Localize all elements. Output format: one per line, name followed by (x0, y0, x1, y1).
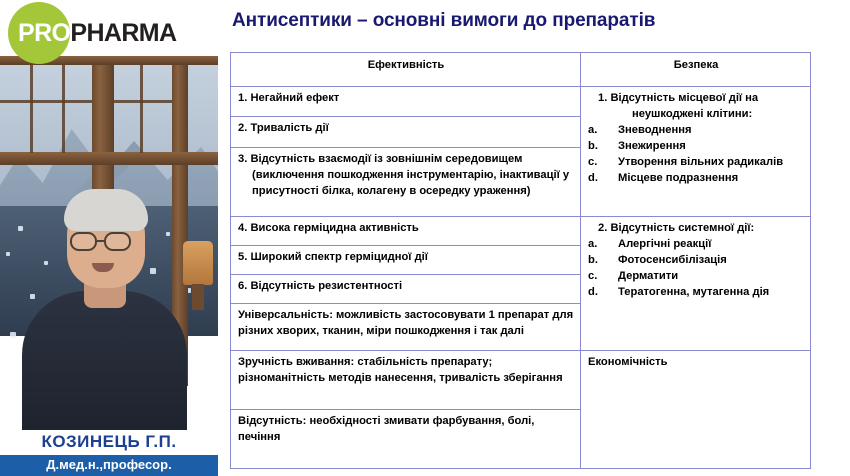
list-text: Знежирення (618, 139, 804, 155)
list-marker: b. (588, 139, 618, 155)
logo-wordmark: PROPHARMA (18, 19, 177, 48)
eyeglasses-left-lens (70, 232, 97, 251)
list-text: Дерматити (618, 269, 804, 285)
list-item: d.Тератогенна, мутагенна дія (588, 285, 804, 301)
safety-block-1-list: a.Зневоднення b.Знежирення c.Утворення в… (588, 123, 804, 187)
safety-economy: Економічність (581, 351, 811, 469)
list-marker: c. (588, 155, 618, 171)
speaker-name: КОЗИНЕЦЬ Г.П. (0, 430, 218, 455)
efficacy-universality: Універсальність: можливість застосовуват… (231, 303, 581, 350)
list-marker: b. (588, 253, 618, 269)
list-item: d.Місцеве подразнення (588, 171, 804, 187)
virtual-background-scene (0, 56, 218, 476)
slide-content: Антисептики – основні вимоги до препарат… (218, 0, 850, 476)
list-marker: c. (588, 269, 618, 285)
efficacy-item-4: 4. Висока гермiцидна активність (231, 217, 581, 246)
list-text: Тератогенна, мутагенна дія (618, 285, 804, 301)
safety-block-1: 1. Відсутність місцевої дії на неушкодже… (581, 87, 811, 217)
list-text: Утворення вільних радикалів (618, 155, 804, 171)
speaker-hair (64, 189, 148, 231)
eyeglasses-bridge (97, 240, 104, 242)
list-marker: d. (588, 285, 618, 301)
efficacy-convenience: Зручність вживання: стабільність препара… (231, 351, 581, 410)
speaker-figure (0, 56, 218, 476)
efficacy-item-6: 6. Відсутність резистентності (231, 274, 581, 303)
safety-block-2-heading: 2. Відсутність системної дії: (588, 221, 804, 237)
safety-block-1-heading-line2: неушкоджені клітини: (598, 107, 804, 123)
logo-word-pharma: PHARMA (70, 19, 176, 47)
efficacy-item-3: 3. Відсутність взаємодії із зовнішнім се… (231, 147, 581, 216)
table-header-row: Ефективність Безпека (231, 53, 811, 87)
table-row: 1. Негайний ефект 1. Відсутність місцево… (231, 87, 811, 117)
safety-block-2-list: a.Алергічні реакції b.Фотосенсибілізація… (588, 237, 804, 301)
safety-block-1-heading-line1: 1. Відсутність місцевої дії на (598, 92, 758, 104)
table-row: Зручність вживання: стабільність препара… (231, 351, 811, 410)
list-item: c.Утворення вільних радикалів (588, 155, 804, 171)
speaker-torso (22, 291, 187, 451)
requirements-table: Ефективність Безпека 1. Негайний ефект 1… (230, 52, 811, 469)
table-row: 4. Висока гермiцидна активність 2. Відсу… (231, 217, 811, 246)
speaker-role: Д.мед.н.,професор. (0, 455, 218, 476)
efficacy-absence: Відсутність: необхідності змивати фарбув… (231, 410, 581, 469)
list-marker: a. (588, 237, 618, 253)
presentation-slide: PROPHARMA КОЗИНЕЦЬ Г.П. Д.мед.н.,професо… (0, 0, 850, 476)
column-header-safety: Безпека (581, 53, 811, 87)
list-text: Зневоднення (618, 123, 804, 139)
list-item: b.Фотосенсибілізація (588, 253, 804, 269)
safety-block-1-heading: 1. Відсутність місцевої дії на неушкодже… (588, 91, 804, 123)
efficacy-item-1: 1. Негайний ефект (231, 87, 581, 117)
list-item: a.Зневоднення (588, 123, 804, 139)
brand-logo: PROPHARMA (0, 0, 218, 56)
efficacy-item-3-main: 3. Відсутність взаємодії із зовнішнім се… (238, 153, 522, 165)
speaker-video-panel[interactable]: PROPHARMA КОЗИНЕЦЬ Г.П. Д.мед.н.,професо… (0, 0, 218, 476)
list-item: b.Знежирення (588, 139, 804, 155)
list-text: Місцеве подразнення (618, 171, 804, 187)
list-item: a.Алергічні реакції (588, 237, 804, 253)
efficacy-item-2: 2. Тривалість дії (231, 117, 581, 147)
list-marker: d. (588, 171, 618, 187)
list-text: Алергічні реакції (618, 237, 804, 253)
list-marker: a. (588, 123, 618, 139)
efficacy-item-3-note: (виключення пошкодження інструментарію, … (238, 168, 574, 200)
eyeglasses-right-lens (104, 232, 131, 251)
speaker-name-caption: КОЗИНЕЦЬ Г.П. Д.мед.н.,професор. (0, 430, 218, 476)
list-text: Фотосенсибілізація (618, 253, 804, 269)
list-item: c.Дерматити (588, 269, 804, 285)
column-header-efficacy: Ефективність (231, 53, 581, 87)
page-title: Антисептики – основні вимоги до препарат… (232, 10, 832, 32)
logo-word-pro: PRO (18, 19, 70, 47)
safety-block-2: 2. Відсутність системної дії: a.Алергічн… (581, 217, 811, 351)
efficacy-item-5: 5. Широкий спектр гермiцидної дії (231, 245, 581, 274)
